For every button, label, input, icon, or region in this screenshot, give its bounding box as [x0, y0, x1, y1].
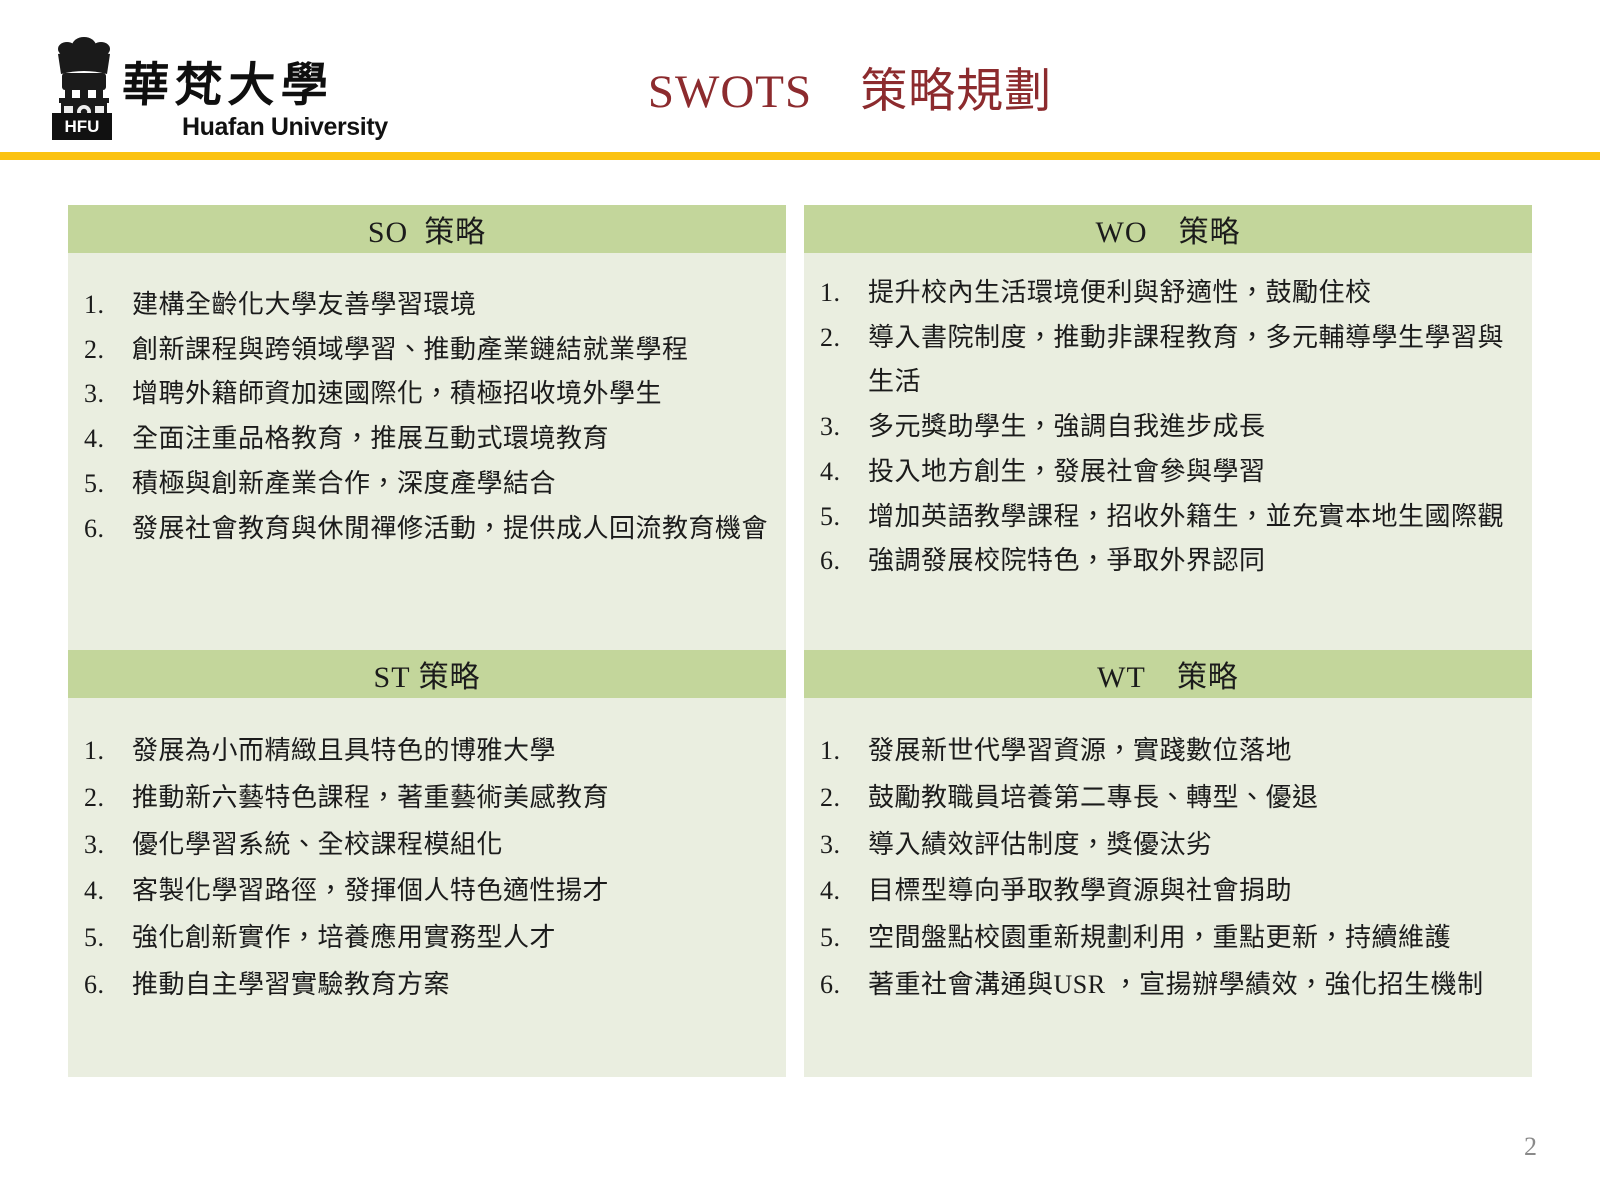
list-number: 3.	[84, 372, 132, 417]
quadrant-header-wo: WO 策略	[804, 205, 1532, 253]
list-item: 1.建構全齡化大學友善學習環境	[84, 283, 770, 328]
list-text: 創新課程與跨領域學習、推動產業鏈結就業學程	[132, 328, 770, 373]
quadrant-header-wt: WT 策略	[804, 650, 1532, 698]
logo-chinese-name: 華梵大學	[121, 62, 389, 109]
list-text: 全面注重品格教育，推展互動式環境教育	[132, 417, 770, 462]
list-item: 3.優化學習系統、全校課程模組化	[84, 822, 770, 869]
list-text: 多元獎助學生，強調自我進步成長	[868, 405, 1516, 450]
list-item: 2.創新課程與跨領域學習、推動產業鏈結就業學程	[84, 328, 770, 373]
swot-strategy-matrix: SO 策略 WO 策略 1.建構全齡化大學友善學習環境 2.創新課程與跨領域學習…	[68, 205, 1532, 1077]
list-number: 4.	[84, 417, 132, 462]
list-item: 6.發展社會教育與休閒禪修活動，提供成人回流教育機會	[84, 507, 770, 552]
logo-wordmark: 華梵大學 Huafan University	[122, 32, 388, 140]
list-text: 發展新世代學習資源，實踐數位落地	[868, 728, 1516, 775]
list-text: 強化創新實作，培養應用實務型人才	[132, 915, 770, 962]
list-item: 5.強化創新實作，培養應用實務型人才	[84, 915, 770, 962]
quadrant-body-st: 1.發展為小而精緻且具特色的博雅大學 2.推動新六藝特色課程，著重藝術美感教育 …	[68, 698, 786, 1077]
list-text: 導入績效評估制度，獎優汰劣	[868, 822, 1516, 869]
list-number: 5.	[820, 915, 868, 962]
list-number: 1.	[820, 271, 868, 316]
list-item: 5.積極與創新產業合作，深度產學結合	[84, 462, 770, 507]
list-text: 優化學習系統、全校課程模組化	[132, 822, 770, 869]
list-item: 2.鼓勵教職員培養第二專長、轉型、優退	[820, 775, 1516, 822]
list-number: 3.	[820, 822, 868, 869]
list-number: 6.	[84, 962, 132, 1009]
list-text: 客製化學習路徑，發揮個人特色適性揚才	[132, 868, 770, 915]
list-number: 6.	[820, 539, 868, 584]
list-item: 2.導入書院制度，推動非課程教育，多元輔導學生學習與生活	[820, 316, 1516, 405]
list-text: 增聘外籍師資加速國際化，積極招收境外學生	[132, 372, 770, 417]
list-item: 4.客製化學習路徑，發揮個人特色適性揚才	[84, 868, 770, 915]
list-number: 6.	[84, 507, 132, 552]
list-number: 4.	[820, 450, 868, 495]
university-logo: HFU 華梵大學 Huafan University	[52, 22, 352, 140]
list-item: 2.推動新六藝特色課程，著重藝術美感教育	[84, 775, 770, 822]
list-text: 投入地方創生，發展社會參與學習	[868, 450, 1516, 495]
list-number: 4.	[84, 868, 132, 915]
list-number: 2.	[84, 775, 132, 822]
list-text: 鼓勵教職員培養第二專長、轉型、優退	[868, 775, 1516, 822]
strategy-list-st: 1.發展為小而精緻且具特色的博雅大學 2.推動新六藝特色課程，著重藝術美感教育 …	[84, 728, 770, 1009]
list-number: 5.	[820, 495, 868, 540]
strategy-list-wo: 1.提升校內生活環境便利與舒適性，鼓勵住校 2.導入書院制度，推動非課程教育，多…	[820, 271, 1516, 584]
page-title: SWOTS 策略規劃	[400, 52, 1300, 121]
list-number: 1.	[820, 728, 868, 775]
list-text: 空間盤點校園重新規劃利用，重點更新，持續維護	[868, 915, 1516, 962]
logo-english-name: Huafan University	[182, 114, 388, 140]
list-item: 6.著重社會溝通與USR ，宣揚辦學績效，強化招生機制	[820, 962, 1516, 1009]
quadrant-body-so: 1.建構全齡化大學友善學習環境 2.創新課程與跨領域學習、推動產業鏈結就業學程 …	[68, 253, 786, 650]
slide-header: HFU 華梵大學 Huafan University SWOTS 策略規劃	[0, 0, 1600, 160]
list-text: 增加英語教學課程，招收外籍生，並充實本地生國際觀	[868, 495, 1516, 540]
list-text: 目標型導向爭取教學資源與社會捐助	[868, 868, 1516, 915]
list-item: 3.導入績效評估制度，獎優汰劣	[820, 822, 1516, 869]
list-item: 6.推動自主學習實驗教育方案	[84, 962, 770, 1009]
strategy-list-so: 1.建構全齡化大學友善學習環境 2.創新課程與跨領域學習、推動產業鏈結就業學程 …	[84, 283, 770, 551]
quadrant-body-wo: 1.提升校內生活環境便利與舒適性，鼓勵住校 2.導入書院制度，推動非課程教育，多…	[804, 253, 1532, 650]
list-text: 發展社會教育與休閒禪修活動，提供成人回流教育機會	[132, 507, 770, 552]
header-divider	[0, 152, 1600, 160]
list-text: 導入書院制度，推動非課程教育，多元輔導學生學習與生活	[868, 316, 1516, 405]
list-number: 1.	[84, 728, 132, 775]
list-item: 4.目標型導向爭取教學資源與社會捐助	[820, 868, 1516, 915]
list-number: 2.	[84, 328, 132, 373]
hfu-badge: HFU	[52, 113, 112, 140]
list-item: 5.增加英語教學課程，招收外籍生，並充實本地生國際觀	[820, 495, 1516, 540]
list-text: 提升校內生活環境便利與舒適性，鼓勵住校	[868, 271, 1516, 316]
list-number: 4.	[820, 868, 868, 915]
quadrant-header-so: SO 策略	[68, 205, 786, 253]
lion-capital-emblem-icon: HFU	[52, 32, 116, 140]
list-item: 3.增聘外籍師資加速國際化，積極招收境外學生	[84, 372, 770, 417]
strategy-list-wt: 1.發展新世代學習資源，實踐數位落地 2.鼓勵教職員培養第二專長、轉型、優退 3…	[820, 728, 1516, 1009]
list-text: 發展為小而精緻且具特色的博雅大學	[132, 728, 770, 775]
list-number: 2.	[820, 775, 868, 822]
quadrant-header-st: ST 策略	[68, 650, 786, 698]
list-item: 6.強調發展校院特色，爭取外界認同	[820, 539, 1516, 584]
list-text: 著重社會溝通與USR ，宣揚辦學績效，強化招生機制	[868, 962, 1516, 1009]
list-item: 1.提升校內生活環境便利與舒適性，鼓勵住校	[820, 271, 1516, 316]
list-text: 建構全齡化大學友善學習環境	[132, 283, 770, 328]
list-number: 5.	[84, 915, 132, 962]
quadrant-body-wt: 1.發展新世代學習資源，實踐數位落地 2.鼓勵教職員培養第二專長、轉型、優退 3…	[804, 698, 1532, 1077]
list-text: 強調發展校院特色，爭取外界認同	[868, 539, 1516, 584]
list-text: 積極與創新產業合作，深度產學結合	[132, 462, 770, 507]
list-item: 3.多元獎助學生，強調自我進步成長	[820, 405, 1516, 450]
page-number: 2	[1524, 1132, 1537, 1162]
list-number: 3.	[820, 405, 868, 450]
list-number: 1.	[84, 283, 132, 328]
list-item: 4.投入地方創生，發展社會參與學習	[820, 450, 1516, 495]
list-item: 5.空間盤點校園重新規劃利用，重點更新，持續維護	[820, 915, 1516, 962]
list-number: 2.	[820, 316, 868, 361]
list-item: 1.發展為小而精緻且具特色的博雅大學	[84, 728, 770, 775]
list-item: 1.發展新世代學習資源，實踐數位落地	[820, 728, 1516, 775]
list-number: 5.	[84, 462, 132, 507]
list-item: 4.全面注重品格教育，推展互動式環境教育	[84, 417, 770, 462]
list-text: 推動自主學習實驗教育方案	[132, 962, 770, 1009]
list-text: 推動新六藝特色課程，著重藝術美感教育	[132, 775, 770, 822]
list-number: 6.	[820, 962, 868, 1009]
list-number: 3.	[84, 822, 132, 869]
